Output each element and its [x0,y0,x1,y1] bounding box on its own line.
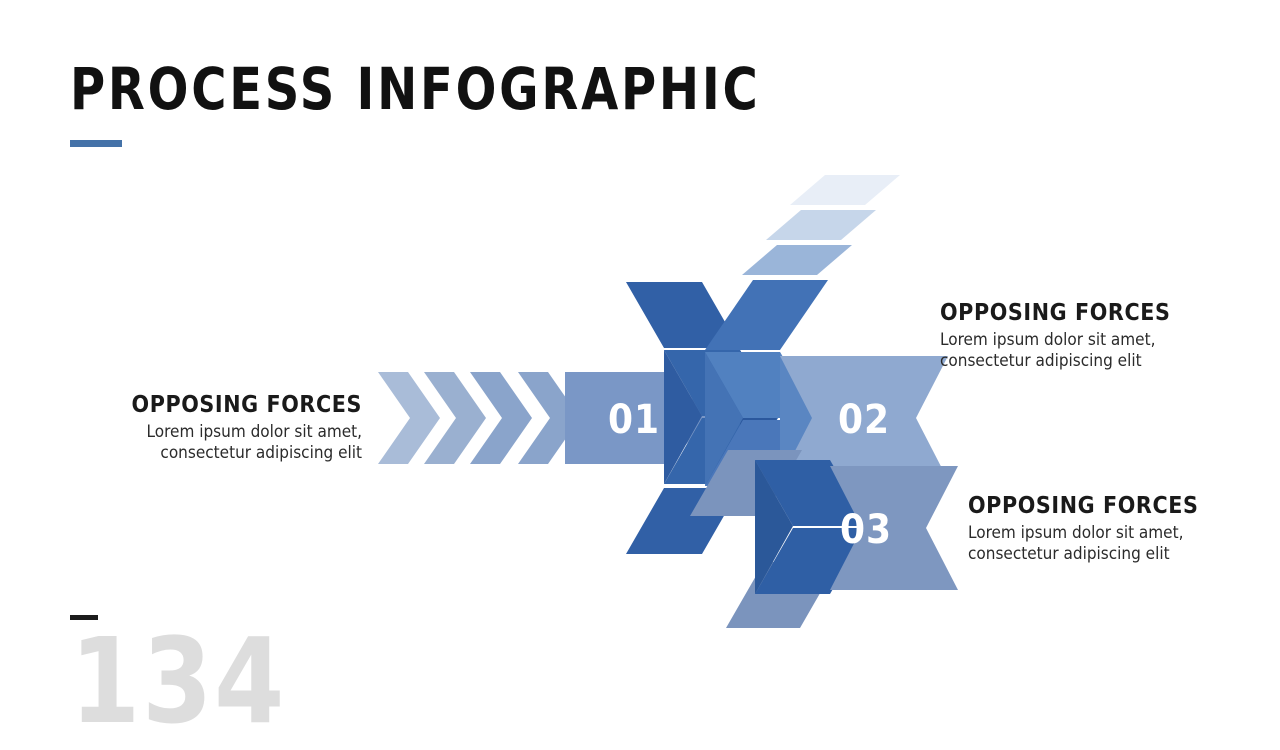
title-accent-rule [70,140,122,147]
branch-02-fade-strip-2 [766,210,876,240]
process-diagram: 02 03 01 [360,160,980,630]
branch-02: 02 [705,175,948,486]
callout-step-03: OPPOSING FORCES Lorem ipsum dolor sit am… [968,493,1268,565]
callout-step-01-heading: OPPOSING FORCES [60,392,362,418]
callout-step-01-body-line-2: consectetur adipiscing elit [60,443,362,464]
callout-step-02-heading: OPPOSING FORCES [940,300,1240,326]
branch-03: 03 [690,450,958,628]
title-block: PROCESS INFOGRAPHIC [70,58,820,147]
branch-01-number: 01 [608,397,660,443]
page-title: PROCESS INFOGRAPHIC [70,58,760,120]
page-number-block: 134 [70,615,298,736]
callout-step-01-body-line-1: Lorem ipsum dolor sit amet, [60,422,362,443]
branch-02-number: 02 [838,397,890,443]
callout-step-03-heading: OPPOSING FORCES [968,493,1268,519]
branch-02-fade-strip-1 [742,245,852,275]
callout-step-03-body-line-2: consectetur adipiscing elit [968,544,1268,565]
branch-02-fade-strip-3 [790,175,900,205]
branch-03-number: 03 [840,507,892,553]
branch-02-shaft [705,280,828,350]
callout-step-03-body-line-1: Lorem ipsum dolor sit amet, [968,523,1268,544]
lead-chevrons [378,372,532,464]
callout-step-02-body-line-1: Lorem ipsum dolor sit amet, [940,330,1240,351]
slide-canvas: PROCESS INFOGRAPHIC [0,0,1280,720]
lead-chevron-1 [378,372,440,464]
callout-step-01: OPPOSING FORCES Lorem ipsum dolor sit am… [60,392,362,464]
callout-step-02-body-line-2: consectetur adipiscing elit [940,351,1240,372]
callout-step-02: OPPOSING FORCES Lorem ipsum dolor sit am… [940,300,1240,372]
